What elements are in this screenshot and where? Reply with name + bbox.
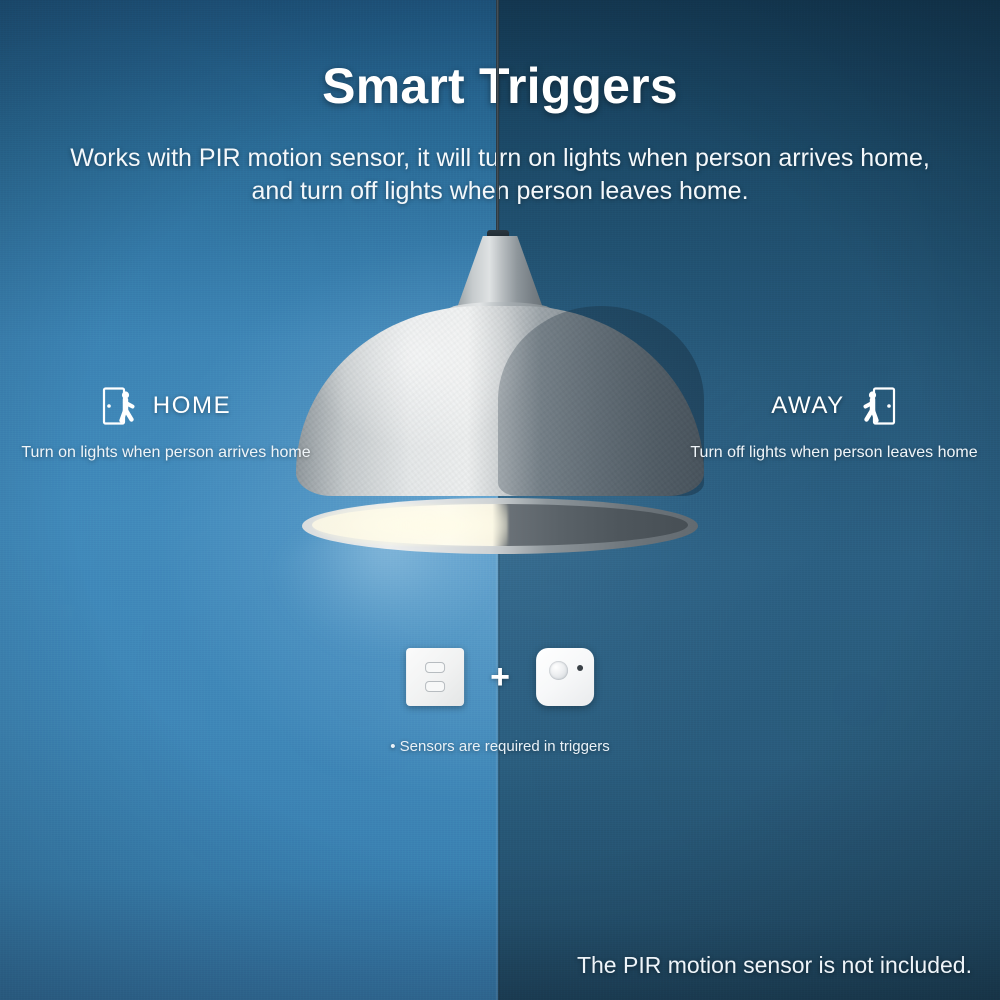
mode-home-label: HOME bbox=[153, 392, 231, 420]
device-requirement-note: • Sensors are required in triggers bbox=[390, 738, 610, 755]
door-person-entering-icon bbox=[101, 386, 139, 426]
mode-home-header: HOME bbox=[8, 384, 324, 428]
mode-home-description: Turn on lights when person arrives home bbox=[8, 444, 324, 462]
pir-lens-icon bbox=[549, 661, 568, 680]
mode-away-header: AWAY bbox=[676, 384, 992, 428]
pir-led-indicator bbox=[577, 665, 583, 671]
mode-away-description: Turn off lights when person leaves home bbox=[676, 444, 992, 462]
wall-switch-device bbox=[406, 648, 464, 706]
page-subtitle: Works with PIR motion sensor, it will tu… bbox=[70, 142, 930, 208]
pir-sensor-device bbox=[536, 648, 594, 706]
switch-rocker-1 bbox=[425, 662, 445, 673]
disclaimer-text: The PIR motion sensor is not included. bbox=[577, 952, 972, 979]
switch-rocker-2 bbox=[425, 681, 445, 692]
mode-block-home: HOME Turn on lights when person arrives … bbox=[8, 384, 324, 462]
plus-connector: + bbox=[490, 660, 510, 694]
page-title: Smart Triggers bbox=[0, 57, 1000, 115]
device-row: + bbox=[406, 648, 594, 706]
smart-triggers-poster: Smart Triggers Works with PIR motion sen… bbox=[0, 0, 1000, 1000]
door-person-leaving-icon bbox=[859, 386, 897, 426]
mode-away-label: AWAY bbox=[771, 392, 845, 420]
mode-block-away: AWAY Turn off lights when person leaves … bbox=[676, 384, 992, 462]
